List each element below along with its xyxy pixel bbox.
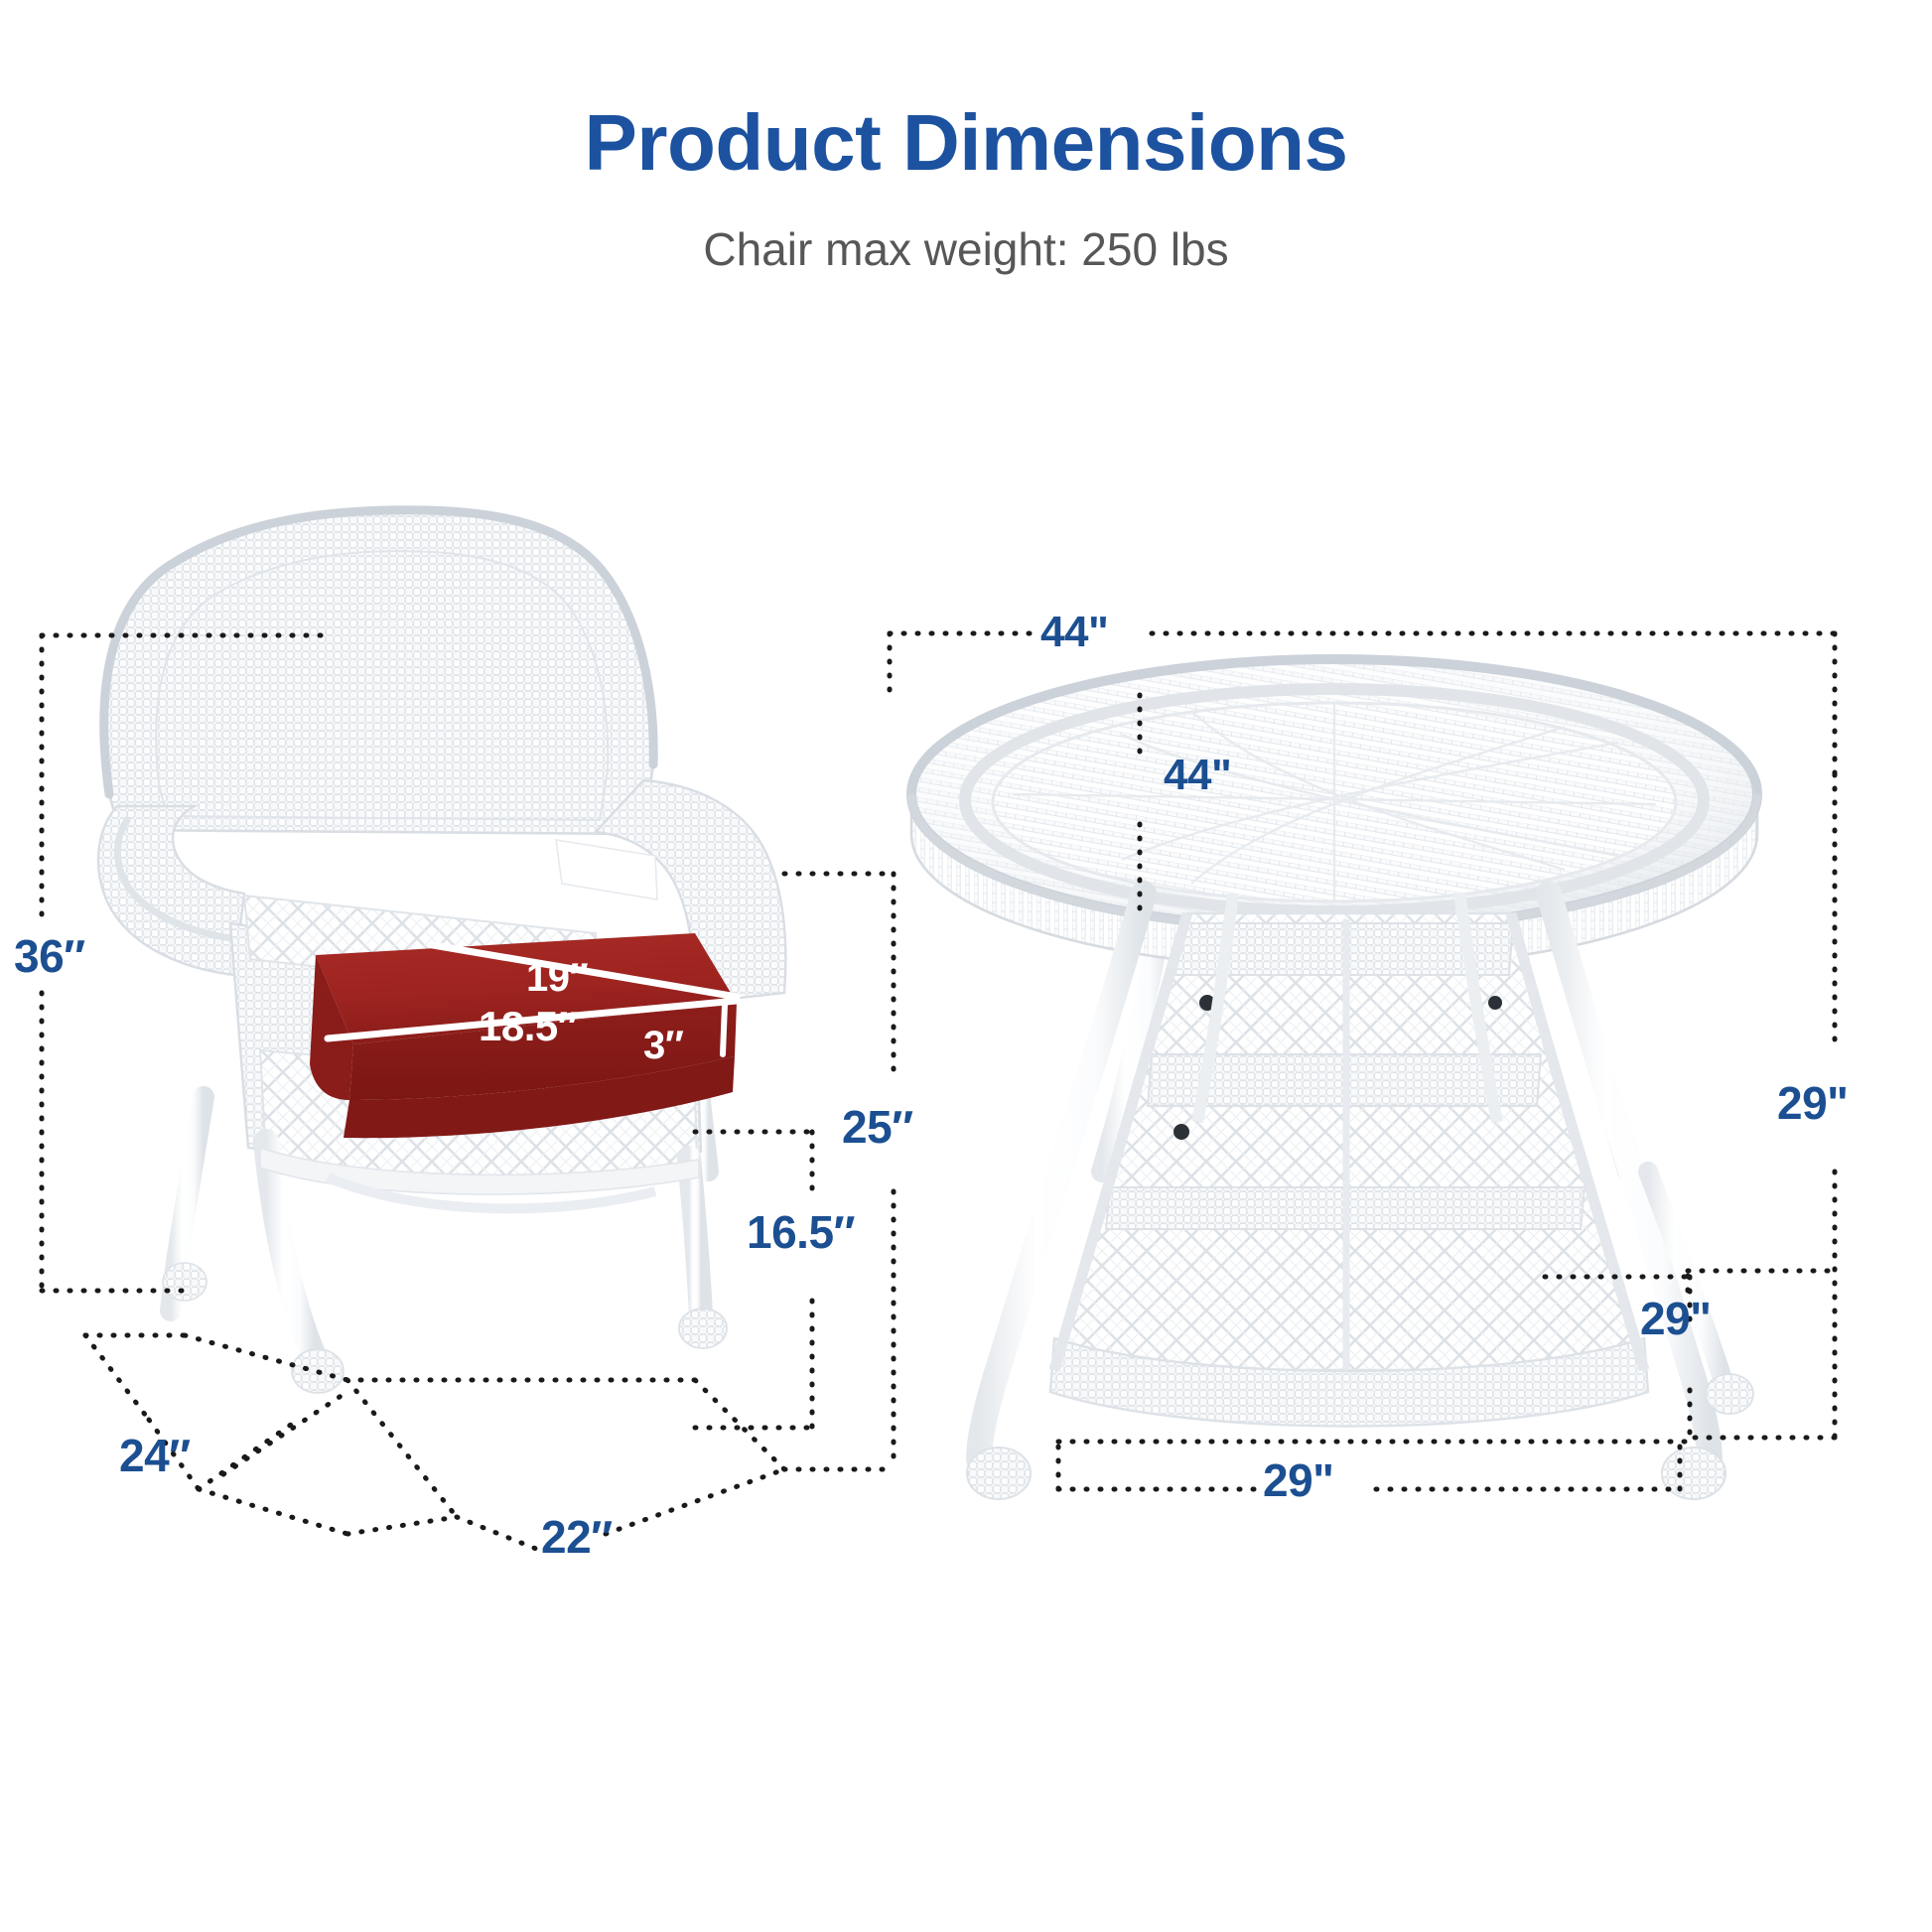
header: Product Dimensions Chair max weight: 250… xyxy=(0,0,1932,272)
table-top-depth-label: 44" xyxy=(1164,754,1231,797)
max-weight-subtitle: Chair max weight: 250 lbs xyxy=(0,226,1932,272)
table-base-width-label: 29" xyxy=(1263,1457,1333,1503)
chair-arm-height-label: 16.5″ xyxy=(747,1209,855,1255)
table-dimension-lines xyxy=(890,633,1835,1489)
diagram-artwork xyxy=(0,0,1932,1932)
table-base-depth-label: 29" xyxy=(1640,1296,1711,1341)
chair-width-label: 22″ xyxy=(541,1514,613,1560)
page-title: Product Dimensions xyxy=(0,103,1932,183)
cushion-thickness-label: 3″ xyxy=(643,1026,683,1065)
chair-illustration xyxy=(98,510,785,1393)
chair-depth-label: 24″ xyxy=(119,1433,191,1478)
table-illustration xyxy=(911,659,1757,1499)
table-top-width-label: 44" xyxy=(1040,611,1108,654)
table-height-label: 29" xyxy=(1777,1080,1848,1126)
chair-height-label: 36″ xyxy=(14,933,85,979)
cushion-depth-label: 19″ xyxy=(526,958,588,998)
chair-dimension-lines xyxy=(42,635,894,1549)
product-dimensions-diagram: Product Dimensions Chair max weight: 250… xyxy=(0,0,1932,1932)
cushion-width-label: 18.5″ xyxy=(479,1006,577,1047)
chair-seat-height-label: 25″ xyxy=(842,1104,913,1150)
